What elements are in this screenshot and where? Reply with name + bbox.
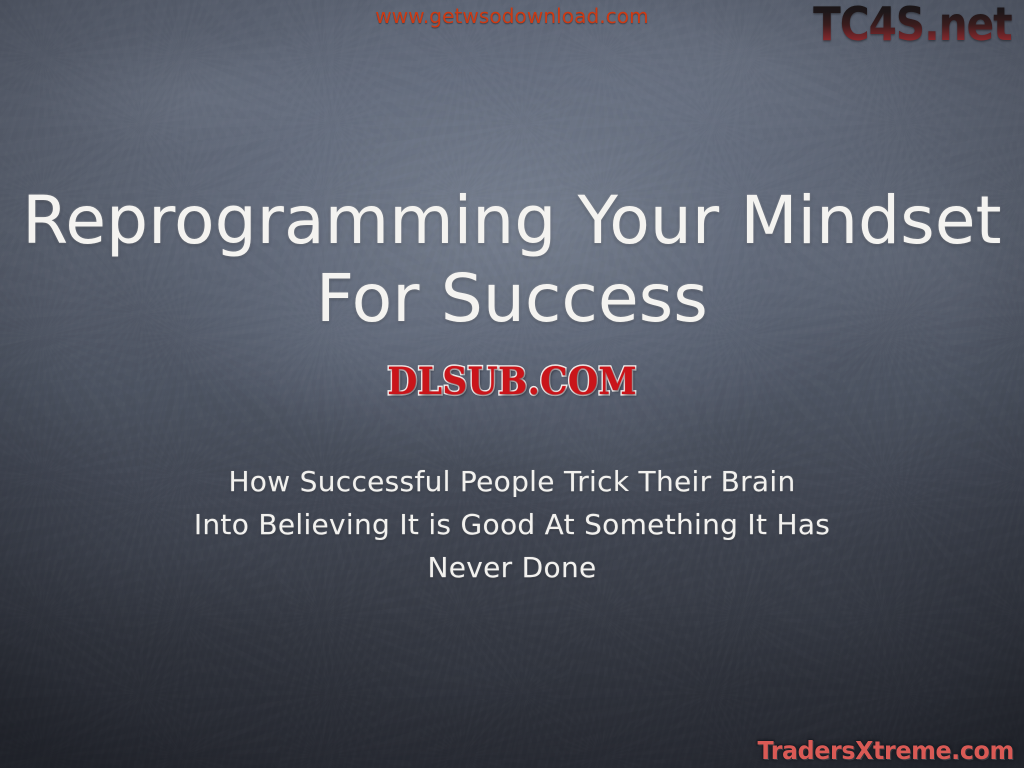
slide-subtitle: How Successful People Trick Their Brain … — [0, 460, 1024, 589]
watermark-tradersxtreme-logo: TradersXtreme.com — [758, 736, 1014, 766]
slide-canvas: www.getwsodownload.com TC4S.net Reprogra… — [0, 0, 1024, 768]
slide-title-line-2: For Success — [0, 260, 1024, 338]
slide-title: Reprogramming Your Mindset For Success — [0, 182, 1024, 338]
watermark-tc4s-logo: TC4S.net — [813, 0, 1012, 52]
slide-subtitle-line-1: How Successful People Trick Their Brain — [0, 460, 1024, 503]
watermark-dlsub-label: DLSUB.COM — [387, 360, 637, 402]
slide-title-line-1: Reprogramming Your Mindset — [0, 182, 1024, 260]
slide-subtitle-line-2: Into Believing It is Good At Something I… — [0, 503, 1024, 546]
watermark-dlsub-logo: DLSUB.COM — [0, 360, 1024, 402]
slide-subtitle-line-3: Never Done — [0, 546, 1024, 589]
